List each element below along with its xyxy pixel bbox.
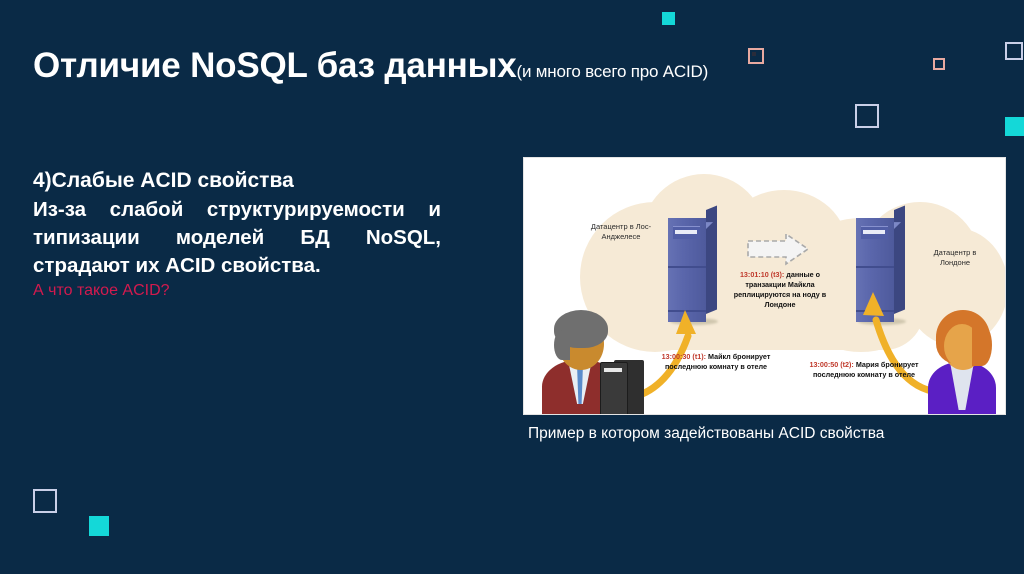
decor-square-outline-bottomleft [33, 489, 57, 513]
section-heading: 4)Слабые ACID свойства [33, 168, 473, 194]
event-michael-label: 13:00:30 (t1): Майкл бронирует последнюю… [657, 352, 775, 372]
laptop-screen-strip [604, 368, 622, 372]
body-paragraph: Из-за слабой структурируемости и типизац… [33, 196, 441, 280]
decor-square-outline-topright [1005, 42, 1023, 60]
diagram-image-wrapper: Датацентр в Лос-Анджелесе 13:01: [523, 157, 1004, 413]
server-drive-slot [675, 230, 697, 234]
event-maria-label: 13:00:50 (t2): Мария бронирует последнюю… [802, 360, 926, 380]
server-seam-line [856, 266, 894, 268]
title-subtitle-text: (и много всего про ACID) [517, 62, 709, 81]
question-line: А что такое ACID? [33, 281, 473, 302]
event-replication-label: 13:01:10 (t3): данные о транзакции Майкл… [722, 270, 838, 310]
person-maria [920, 306, 1004, 415]
server-seam-line [668, 310, 706, 312]
server-seam-line [856, 310, 894, 312]
person-michael [538, 306, 654, 415]
event-maria-time: 13:00:50 (t2): [809, 360, 853, 369]
title-main-text: Отличие NoSQL баз данных [33, 46, 517, 85]
decor-square-cyan-right [1005, 117, 1024, 136]
decor-square-cyan-top [662, 12, 675, 25]
datacenter-left-label: Датацентр в Лос-Анджелесе [582, 222, 660, 242]
replication-arrow-icon [746, 232, 790, 258]
server-los-angeles [668, 210, 720, 330]
acid-replication-diagram: Датацентр в Лос-Анджелесе 13:01: [523, 157, 1006, 415]
server-london [856, 210, 908, 330]
left-text-column: 4)Слабые ACID свойства Из-за слабой стру… [33, 168, 473, 302]
decor-square-cyan-bottom [89, 516, 109, 536]
datacenter-right-label: Датацентр в Лондоне [924, 248, 986, 268]
decor-square-outline-mid [855, 104, 879, 128]
person-michael-hair-side [554, 330, 570, 360]
person-maria-hair-right [972, 324, 992, 366]
server-seam-line [668, 266, 706, 268]
event-michael-time: 13:00:30 (t1): [662, 352, 706, 361]
decor-square-pink-small [933, 58, 945, 70]
event-replication-time: 13:01:10 (t3): [740, 270, 784, 279]
slide-canvas: Отличие NoSQL баз данных(и много всего п… [0, 0, 1024, 574]
image-caption: Пример в котором задействованы ACID свой… [528, 423, 948, 445]
page-title: Отличие NoSQL баз данных(и много всего п… [33, 46, 933, 86]
server-drive-slot [863, 230, 885, 234]
